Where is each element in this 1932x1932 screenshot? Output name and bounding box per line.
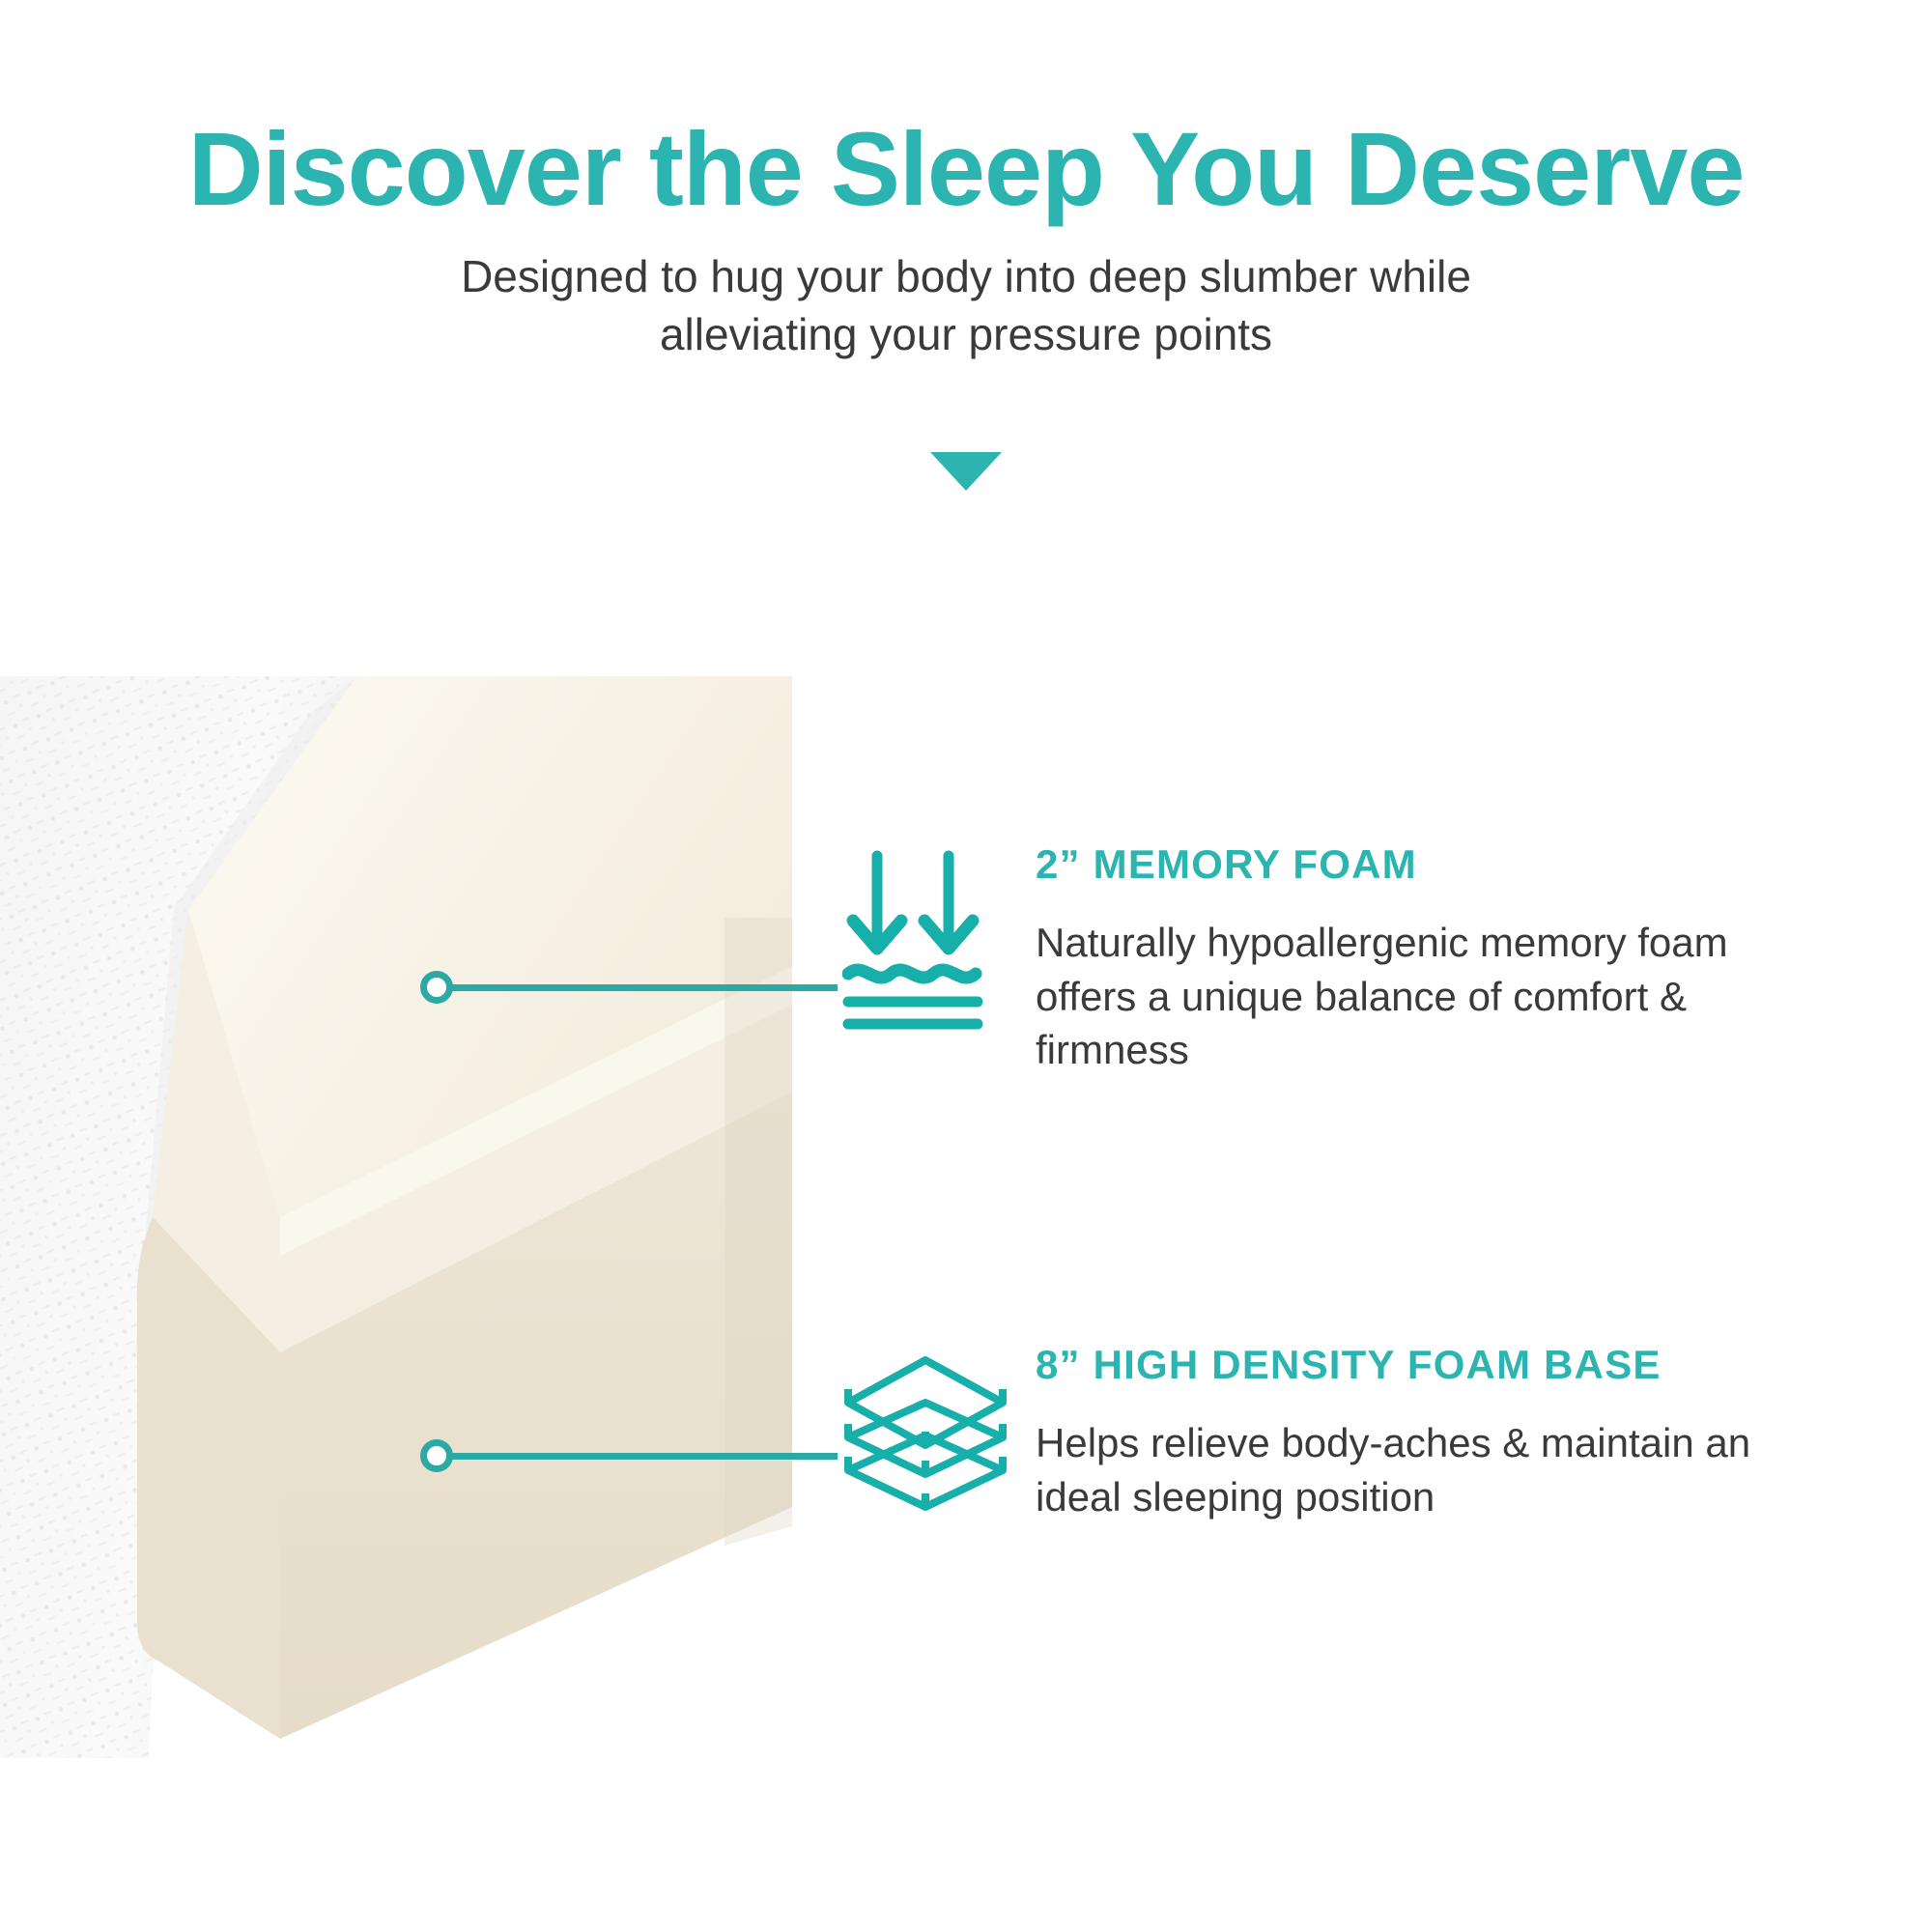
feature-memory-foam: 2” MEMORY FOAM Naturally hypoallergenic … — [842, 842, 1932, 1077]
subtitle-line-2: alleviating your pressure points — [660, 309, 1272, 359]
pressure-arrows-waves-icon — [842, 850, 1009, 1030]
feature-text-wrap: 2” MEMORY FOAM Naturally hypoallergenic … — [1036, 842, 1932, 1077]
page-subtitle: Designed to hug your body into deep slum… — [0, 248, 1932, 364]
callout-leader-line — [451, 984, 838, 991]
callout-dot-icon — [420, 1439, 453, 1472]
callout-leader-line — [451, 1453, 838, 1460]
feature-icon-wrap — [842, 842, 1036, 1030]
header: Discover the Sleep You Deserve Designed … — [0, 114, 1932, 364]
callout-connector-foam-base — [420, 1439, 838, 1472]
subtitle-line-1: Designed to hug your body into deep slum… — [461, 251, 1471, 301]
feature-body-memory-foam: Naturally hypoallergenic memory foam off… — [1036, 916, 1828, 1076]
feature-text-wrap: 8” HIGH DENSITY FOAM BASE Helps relieve … — [1036, 1343, 1932, 1523]
chevron-down-icon — [930, 452, 1002, 491]
stacked-layers-icon — [842, 1350, 1009, 1517]
feature-heading-memory-foam: 2” MEMORY FOAM — [1036, 842, 1932, 887]
feature-body-foam-base: Helps relieve body-aches & maintain an i… — [1036, 1416, 1828, 1523]
callout-dot-icon — [420, 971, 453, 1004]
feature-icon-wrap — [842, 1343, 1036, 1517]
feature-heading-foam-base: 8” HIGH DENSITY FOAM BASE — [1036, 1343, 1932, 1387]
callout-connector-memory-foam — [420, 971, 838, 1004]
mattress-illustration — [0, 676, 792, 1758]
feature-foam-base: 8” HIGH DENSITY FOAM BASE Helps relieve … — [842, 1343, 1932, 1523]
page-title: Discover the Sleep You Deserve — [0, 114, 1932, 223]
infographic-page: Discover the Sleep You Deserve Designed … — [0, 0, 1932, 1932]
